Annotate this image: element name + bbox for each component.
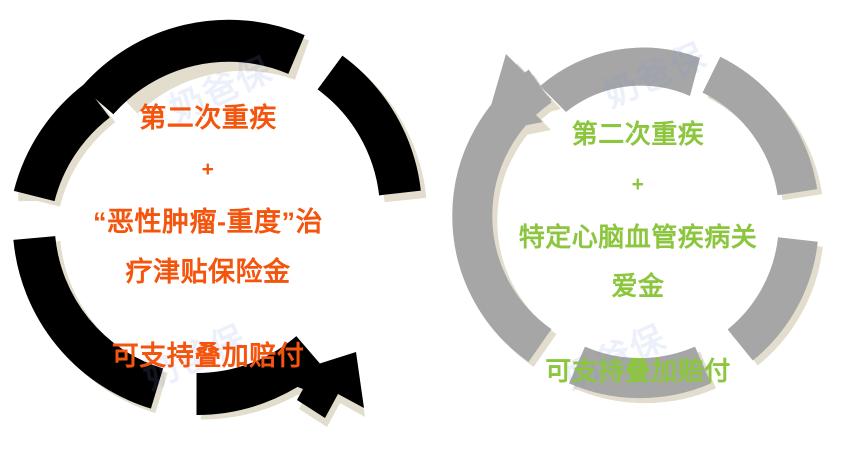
right-footer-note: 可支持叠加赔付 xyxy=(492,356,784,386)
right-cycle-text-block: 第二次重疾 + 特定心脑血管疾病关 爱金 可支持叠加赔付 xyxy=(492,100,784,404)
right-secondary-benefit-line2: 爱金 xyxy=(492,271,784,301)
right-primary-benefit-label: 第二次重疾 xyxy=(492,119,784,149)
left-primary-benefit-label: 第二次重疾 xyxy=(62,103,354,134)
text-layer: 第二次重疾 + “恶性肿瘤-重度”治 疗津贴保险金 可支持叠加赔付 第二次重疾 … xyxy=(0,0,850,451)
right-plus-symbol: + xyxy=(492,173,784,197)
left-footer-note: 可支持叠加赔付 xyxy=(62,341,354,372)
right-secondary-benefit-line1: 特定心脑血管疾病关 xyxy=(492,222,784,252)
left-cycle-text-block: 第二次重疾 + “恶性肿瘤-重度”治 疗津贴保险金 可支持叠加赔付 xyxy=(62,84,354,391)
left-secondary-benefit-line1: “恶性肿瘤-重度”治 xyxy=(62,207,354,238)
left-secondary-benefit-line2: 疗津贴保险金 xyxy=(62,257,354,288)
left-plus-symbol: + xyxy=(62,158,354,182)
diagram-canvas: 奶爸保 奶爸保 奶爸保 奶爸保 第二次重疾 + “恶性肿瘤-重度”治 疗津贴保险… xyxy=(0,0,850,451)
